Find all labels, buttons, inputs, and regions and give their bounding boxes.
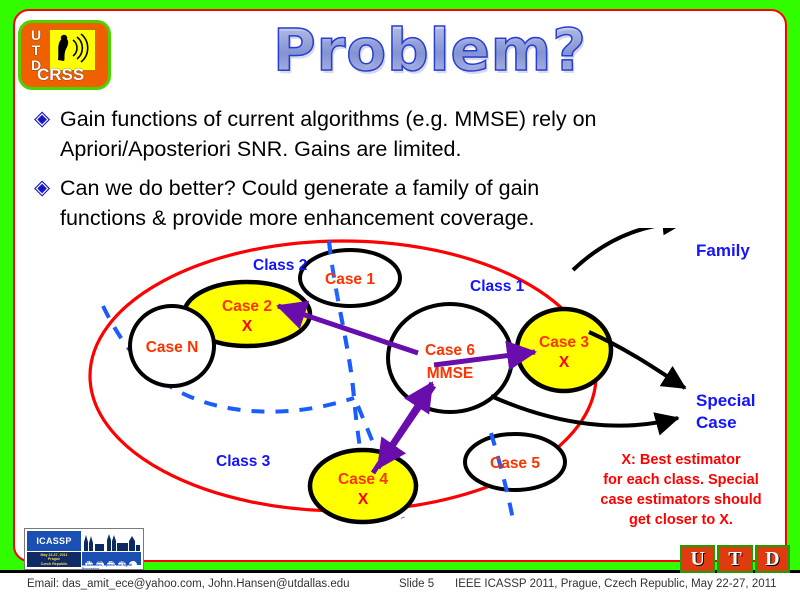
bullet-1-line-2: Apriori/Aposteriori SNR. Gains are limit… xyxy=(60,134,597,164)
node-case-3-x: X xyxy=(559,354,570,371)
class-label-3: Class 3 xyxy=(216,453,271,470)
node-case-4-label: Case 4 xyxy=(338,471,388,488)
node-case-4-x: X xyxy=(358,491,369,508)
class-label-2: Class 2 xyxy=(253,257,307,274)
class-label-1: Class 1 xyxy=(470,278,525,295)
node-case-5-label: Case 5 xyxy=(490,455,540,472)
bullet-item-2-text: Can we do better? Could generate a famil… xyxy=(60,173,539,233)
node-case-n-label: Case N xyxy=(146,339,199,356)
callout-special-line-1: Special xyxy=(696,391,756,410)
prague-skyline-icon xyxy=(82,531,141,551)
callout-special-line-2: Case xyxy=(696,413,737,432)
prague-skyline-svg xyxy=(82,531,141,551)
utd-logo: U T D xyxy=(680,545,790,573)
diagram-svg: Class 1 Class 2 Class 3 Case 1 Case 2 X … xyxy=(13,228,787,538)
bullet-2-line-2: functions & provide more enhancement cov… xyxy=(60,203,539,233)
utd-crss-logo: U T D CRSS xyxy=(18,20,111,90)
utd-logo-letter-u: U xyxy=(680,545,715,573)
page-title: Problem? xyxy=(0,16,800,84)
bullet-item-1-text: Gain functions of current algorithms (e.… xyxy=(60,104,597,164)
note-line-1: X: Best estimator xyxy=(621,452,741,468)
soundwave-figure-svg xyxy=(50,30,93,68)
icassp-caption-line-2: on Acoustics, Speech and Signal Processi… xyxy=(82,564,141,570)
note-line-3: case estimators should xyxy=(600,492,761,508)
node-case-2-label: Case 2 xyxy=(222,298,272,315)
icassp-logo-dates: May 22-27, 2011 Prague Czech Republic xyxy=(27,552,81,567)
utd-logo-letter-t: T xyxy=(717,545,752,573)
family-of-gain-functions-diagram: Class 1 Class 2 Class 3 Case 1 Case 2 X … xyxy=(13,228,787,538)
footer-conference-text: IEEE ICASSP 2011, Prague, Czech Republic… xyxy=(455,578,777,590)
arrow-to-special-case-lower xyxy=(491,396,678,426)
bullet-list: ◈ Gain functions of current algorithms (… xyxy=(34,104,744,242)
node-case-6-label: Case 6 xyxy=(425,342,475,359)
bullet-item-2: ◈ Can we do better? Could generate a fam… xyxy=(34,173,744,233)
node-case-1-label: Case 1 xyxy=(325,271,375,288)
diamond-bullet-icon: ◈ xyxy=(34,173,60,203)
bullet-1-line-1: Gain functions of current algorithms (e.… xyxy=(60,104,597,134)
node-case-6-sub: MMSE xyxy=(427,365,474,382)
diamond-bullet-icon: ◈ xyxy=(34,104,60,134)
crss-logo-letter-u: U xyxy=(28,28,44,43)
icassp-dates-line-3: Czech Republic xyxy=(27,562,81,566)
bullet-item-1: ◈ Gain functions of current algorithms (… xyxy=(34,104,744,164)
utd-logo-letter-d: D xyxy=(755,545,790,573)
icassp-logo: ICASSP May 22-27, 2011 Prague Czech Repu… xyxy=(24,528,144,570)
icassp-logo-caption: 2011 International Conference on Acousti… xyxy=(82,561,141,567)
node-case-2-x: X xyxy=(242,318,253,335)
callout-family-label: Family xyxy=(696,241,750,260)
bullet-2-line-1: Can we do better? Could generate a famil… xyxy=(60,173,539,203)
footer-email-text: Email: das_amit_ece@yahoo.com, John.Hans… xyxy=(27,578,350,590)
crss-logo-letter-t: T xyxy=(28,43,44,58)
note-line-4: get closer to X. xyxy=(629,512,733,528)
crss-logo-text: CRSS xyxy=(37,65,84,85)
node-case-3-label: Case 3 xyxy=(539,334,589,351)
icassp-logo-name: ICASSP xyxy=(27,531,81,551)
note-line-2: for each class. Special xyxy=(603,472,759,488)
footer-slide-number: Slide 5 xyxy=(399,578,434,590)
